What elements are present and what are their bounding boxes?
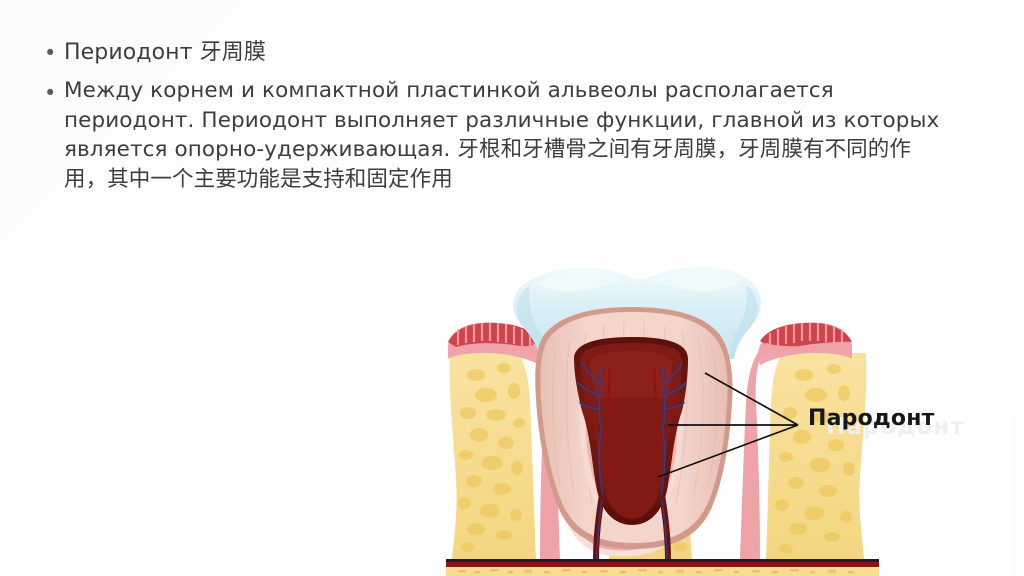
alveolar-bone-right [766,353,866,559]
bullet-text-1: Периодонт 牙周膜 [64,36,954,70]
bullet-marker-icon: • [44,76,64,110]
slide-text-body: • Периодонт 牙周膜 • Между корнем и компакт… [44,36,954,194]
basal-bone-and-vessel-band [446,559,879,576]
bullet-marker-icon: • [44,36,64,70]
bullet-text-2: Между корнем и компактной пластинкой аль… [64,76,954,194]
periodont-label: Пародонт [808,406,935,431]
alveolar-bone-left [450,351,536,559]
bullet-item-2: • Между корнем и компактной пластинкой а… [44,76,954,194]
bullet-item-1: • Периодонт 牙周膜 [44,36,954,70]
